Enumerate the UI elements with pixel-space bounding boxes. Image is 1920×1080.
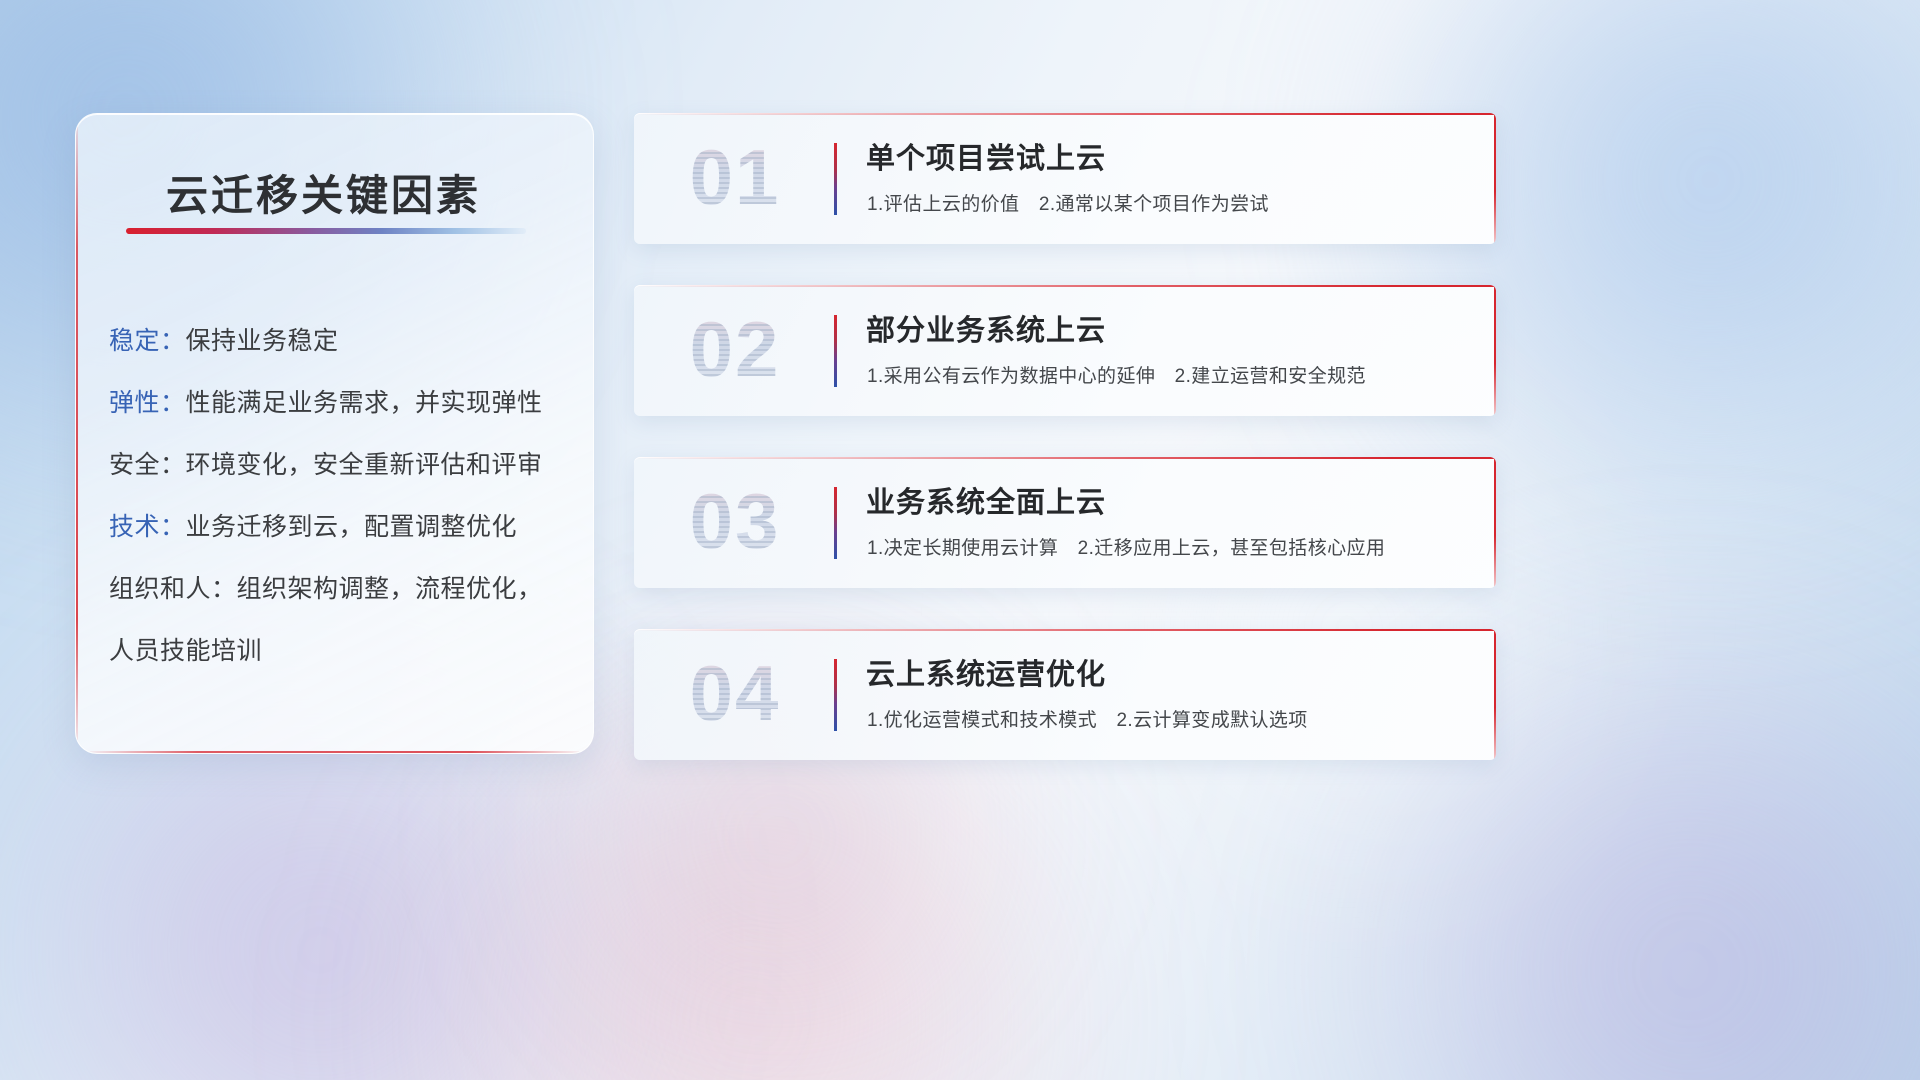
step-number: 03 (660, 471, 810, 571)
list-item-label: 弹性： (109, 389, 186, 417)
step-card-03[interactable]: 03 业务系统全面上云 1.决定长期使用云计算 2.迁移应用上云，甚至包括核心应… (634, 457, 1496, 588)
list-item-label: 组织和人： (109, 575, 237, 603)
step-number: 04 (660, 643, 810, 743)
key-factors-list: 稳定：保持业务稳定 弹性：性能满足业务需求，并实现弹性 安全：环境变化，安全重新… (109, 310, 569, 682)
step-card-04[interactable]: 04 云上系统运营优化 1.优化运营模式和技术模式 2.云计算变成默认选项 (634, 629, 1496, 760)
list-item-text: 组织架构调整，流程优化， (237, 575, 543, 603)
step-divider (834, 143, 837, 215)
step-description: 1.评估上云的价值 2.通常以某个项目作为尝试 (867, 189, 1269, 216)
step-divider (834, 315, 837, 387)
slide-stage: 云迁移关键因素 稳定：保持业务稳定 弹性：性能满足业务需求，并实现弹性 安全：环… (0, 0, 1920, 1080)
list-item: 人员技能培训 (109, 620, 569, 682)
list-item-text: 保持业务稳定 (186, 327, 339, 355)
step-description: 1.采用公有云作为数据中心的延伸 2.建立运营和安全规范 (867, 361, 1366, 388)
step-card-01[interactable]: 01 单个项目尝试上云 1.评估上云的价值 2.通常以某个项目作为尝试 (634, 113, 1496, 244)
list-item: 安全：环境变化，安全重新评估和评审 (109, 434, 569, 496)
step-description: 1.决定长期使用云计算 2.迁移应用上云，甚至包括核心应用 (867, 533, 1385, 560)
list-item: 稳定：保持业务稳定 (109, 310, 569, 372)
list-item-label: 安全： (109, 451, 186, 479)
page-title: 云迁移关键因素 (166, 162, 481, 223)
list-item: 弹性：性能满足业务需求，并实现弹性 (109, 372, 569, 434)
list-item-text: 人员技能培训 (109, 637, 262, 665)
step-divider (834, 659, 837, 731)
title-underline (126, 228, 526, 234)
list-item: 组织和人：组织架构调整，流程优化， (109, 558, 569, 620)
list-item-text: 环境变化，安全重新评估和评审 (186, 451, 543, 479)
list-item-text: 性能满足业务需求，并实现弹性 (186, 389, 543, 417)
step-title: 业务系统全面上云 (866, 479, 1106, 521)
step-title: 单个项目尝试上云 (866, 135, 1106, 177)
list-item: 技术：业务迁移到云，配置调整优化 (109, 496, 569, 558)
step-card-02[interactable]: 02 部分业务系统上云 1.采用公有云作为数据中心的延伸 2.建立运营和安全规范 (634, 285, 1496, 416)
step-number: 02 (660, 299, 810, 399)
list-item-label: 稳定： (109, 327, 186, 355)
list-item-text: 业务迁移到云，配置调整优化 (186, 513, 518, 541)
list-item-label: 技术： (109, 513, 186, 541)
key-factors-panel: 云迁移关键因素 稳定：保持业务稳定 弹性：性能满足业务需求，并实现弹性 安全：环… (75, 113, 594, 754)
step-number: 01 (660, 127, 810, 227)
step-description: 1.优化运营模式和技术模式 2.云计算变成默认选项 (867, 705, 1308, 732)
step-title: 云上系统运营优化 (866, 651, 1106, 693)
step-title: 部分业务系统上云 (866, 307, 1106, 349)
step-divider (834, 487, 837, 559)
